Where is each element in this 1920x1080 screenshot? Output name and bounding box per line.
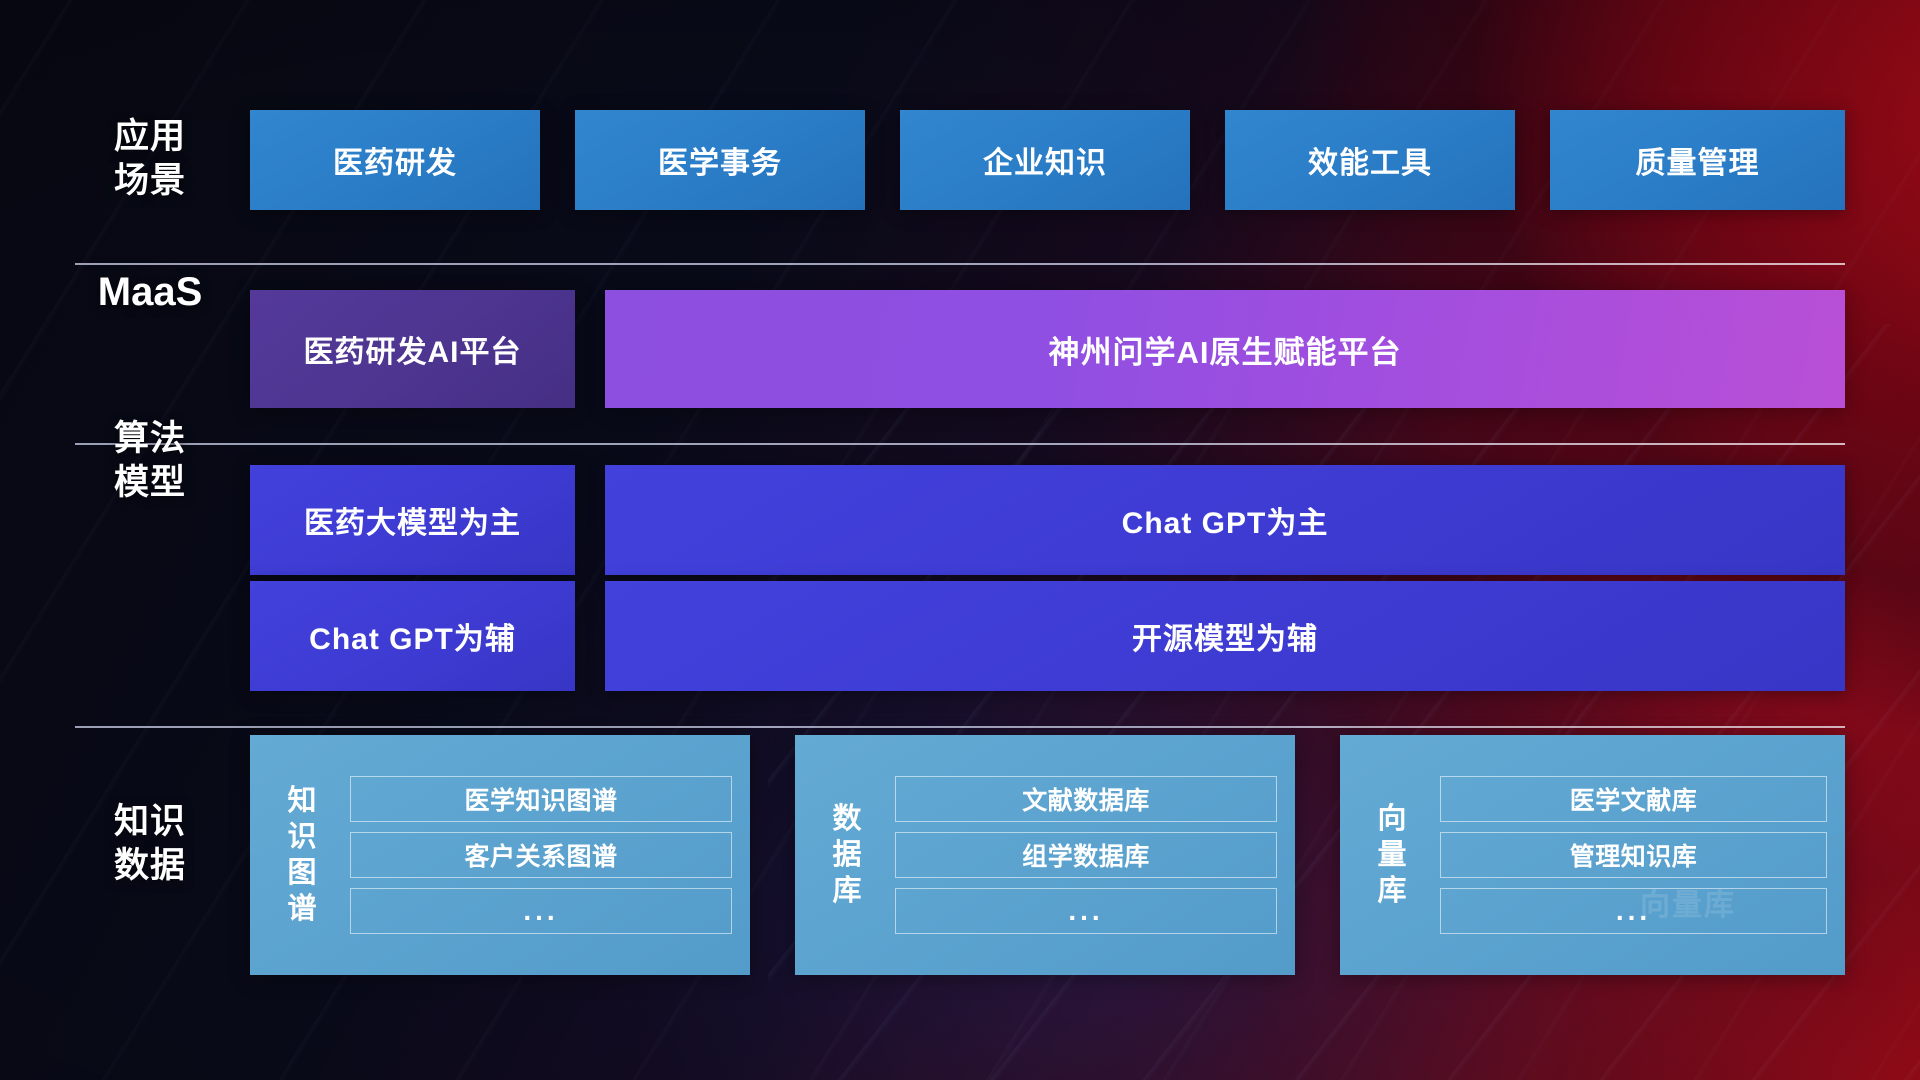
app-box-medicine-rd[interactable]: 医药研发: [250, 110, 540, 210]
maas-box-medicine-ai-platform[interactable]: 医药研发AI平台: [250, 290, 575, 408]
row-label-knowledge-line1: 知识: [75, 800, 225, 844]
architecture-diagram: 应用 场景 医药研发 医学事务 企业知识 效能工具 质量管理 MaaS 医药研发…: [0, 0, 1920, 1080]
knowledge-group-database[interactable]: 数据库 文献数据库 组学数据库 ...: [795, 735, 1295, 975]
knowledge-item-more[interactable]: ...: [1440, 888, 1827, 934]
knowledge-group-vertical-label: 数据库: [825, 801, 869, 909]
app-box-efficiency-tools[interactable]: 效能工具: [1225, 110, 1515, 210]
knowledge-item[interactable]: 组学数据库: [895, 832, 1277, 878]
maas-box-label: 神州问学AI原生赋能平台: [1049, 327, 1402, 372]
row-label-knowledge-line2: 数据: [75, 844, 225, 888]
row-label-knowledge: 知识 数据: [75, 800, 225, 888]
divider-maas-algorithm: [75, 443, 1845, 445]
knowledge-item-more[interactable]: ...: [350, 888, 732, 934]
row-label-application-line1: 应用: [75, 115, 225, 159]
knowledge-group-vertical-label: 知识图谱: [280, 783, 324, 927]
knowledge-item[interactable]: 管理知识库: [1440, 832, 1827, 878]
algo-box-chatgpt-secondary[interactable]: Chat GPT为辅: [250, 581, 575, 691]
knowledge-group-item-list: 医学知识图谱 客户关系图谱 ...: [324, 776, 750, 934]
app-box-medical-affairs[interactable]: 医学事务: [575, 110, 865, 210]
algo-box-medicine-llm-primary[interactable]: 医药大模型为主: [250, 465, 575, 575]
algo-box-label: Chat GPT为主: [1122, 498, 1329, 542]
knowledge-group-vector-store[interactable]: 向量库 医学文献库 管理知识库 ...: [1340, 735, 1845, 975]
knowledge-group-item-list: 医学文献库 管理知识库 ...: [1414, 776, 1845, 934]
app-box-quality-management[interactable]: 质量管理: [1550, 110, 1845, 210]
knowledge-item[interactable]: 文献数据库: [895, 776, 1277, 822]
row-label-application: 应用 场景: [75, 115, 225, 203]
knowledge-item[interactable]: 医学文献库: [1440, 776, 1827, 822]
maas-box-label: 医药研发AI平台: [304, 327, 522, 371]
app-box-label: 效能工具: [1308, 138, 1432, 182]
divider-algorithm-knowledge: [75, 726, 1845, 728]
knowledge-group-item-list: 文献数据库 组学数据库 ...: [869, 776, 1295, 934]
row-label-maas-text: MaaS: [75, 270, 225, 314]
algo-box-label: Chat GPT为辅: [309, 614, 516, 658]
knowledge-group-knowledge-graph[interactable]: 知识图谱 医学知识图谱 客户关系图谱 ...: [250, 735, 750, 975]
row-label-maas: MaaS: [75, 270, 225, 314]
row-label-algorithm: 算法 模型: [75, 417, 225, 505]
divider-application-maas: [75, 263, 1845, 265]
app-box-enterprise-knowledge[interactable]: 企业知识: [900, 110, 1190, 210]
algo-box-label: 医药大模型为主: [304, 498, 521, 542]
algo-box-opensource-secondary[interactable]: 开源模型为辅: [605, 581, 1845, 691]
row-label-algorithm-line1: 算法: [75, 417, 225, 461]
row-label-algorithm-line2: 模型: [75, 461, 225, 505]
knowledge-item-more[interactable]: ...: [895, 888, 1277, 934]
row-label-application-line2: 场景: [75, 159, 225, 203]
knowledge-item[interactable]: 医学知识图谱: [350, 776, 732, 822]
app-box-label: 质量管理: [1636, 138, 1760, 182]
knowledge-item[interactable]: 客户关系图谱: [350, 832, 732, 878]
app-box-label: 医药研发: [333, 138, 457, 182]
app-box-label: 企业知识: [983, 138, 1107, 182]
algo-box-label: 开源模型为辅: [1132, 614, 1318, 658]
algo-box-chatgpt-primary[interactable]: Chat GPT为主: [605, 465, 1845, 575]
maas-box-shenzhou-wenxue-platform[interactable]: 神州问学AI原生赋能平台: [605, 290, 1845, 408]
app-box-label: 医学事务: [658, 138, 782, 182]
knowledge-group-vertical-label: 向量库: [1370, 801, 1414, 909]
